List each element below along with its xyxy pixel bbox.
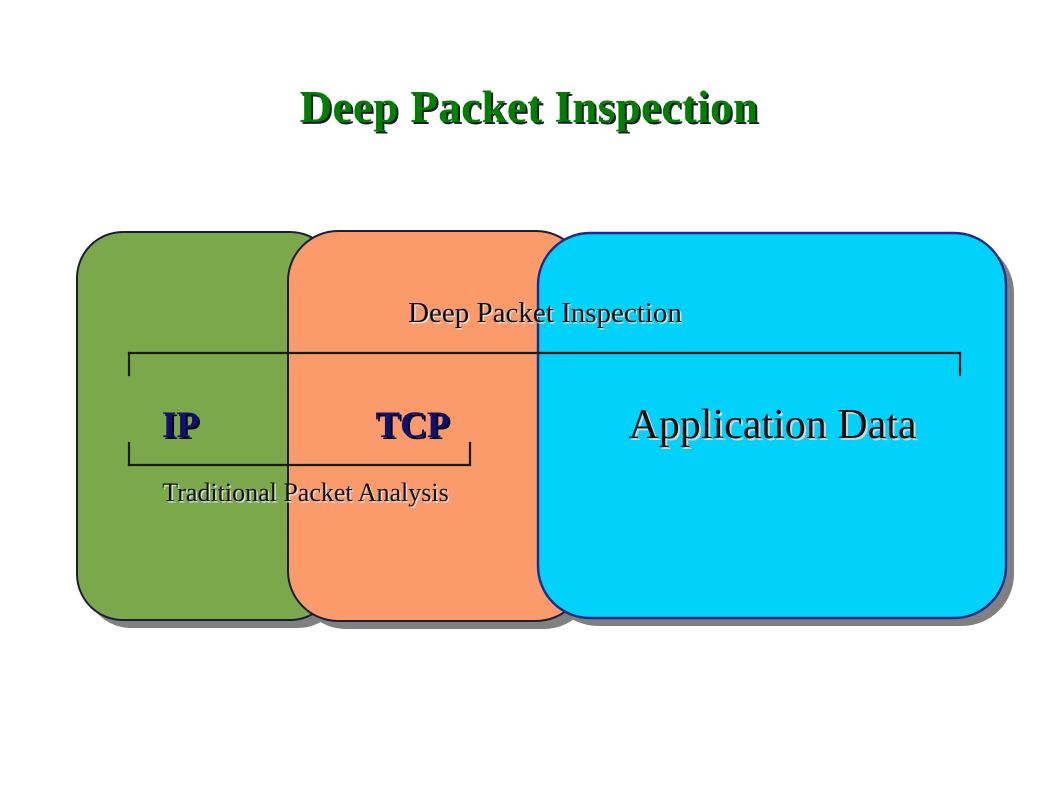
ip-layer-label: IP: [78, 402, 283, 450]
slide-canvas: Deep Packet Inspection: [0, 0, 1058, 794]
application-data-layer-label: Application Data: [540, 397, 1005, 453]
deep-packet-inspection-bracket-label: Deep Packet Inspection: [0, 295, 1058, 331]
traditional-packet-analysis-bracket-label: Traditional Packet Analysis: [78, 476, 533, 510]
tcp-layer-label: TCP: [290, 402, 535, 450]
packet-layer-diagram: Deep Packet Inspection IP TCP Applicatio…: [0, 0, 1058, 794]
